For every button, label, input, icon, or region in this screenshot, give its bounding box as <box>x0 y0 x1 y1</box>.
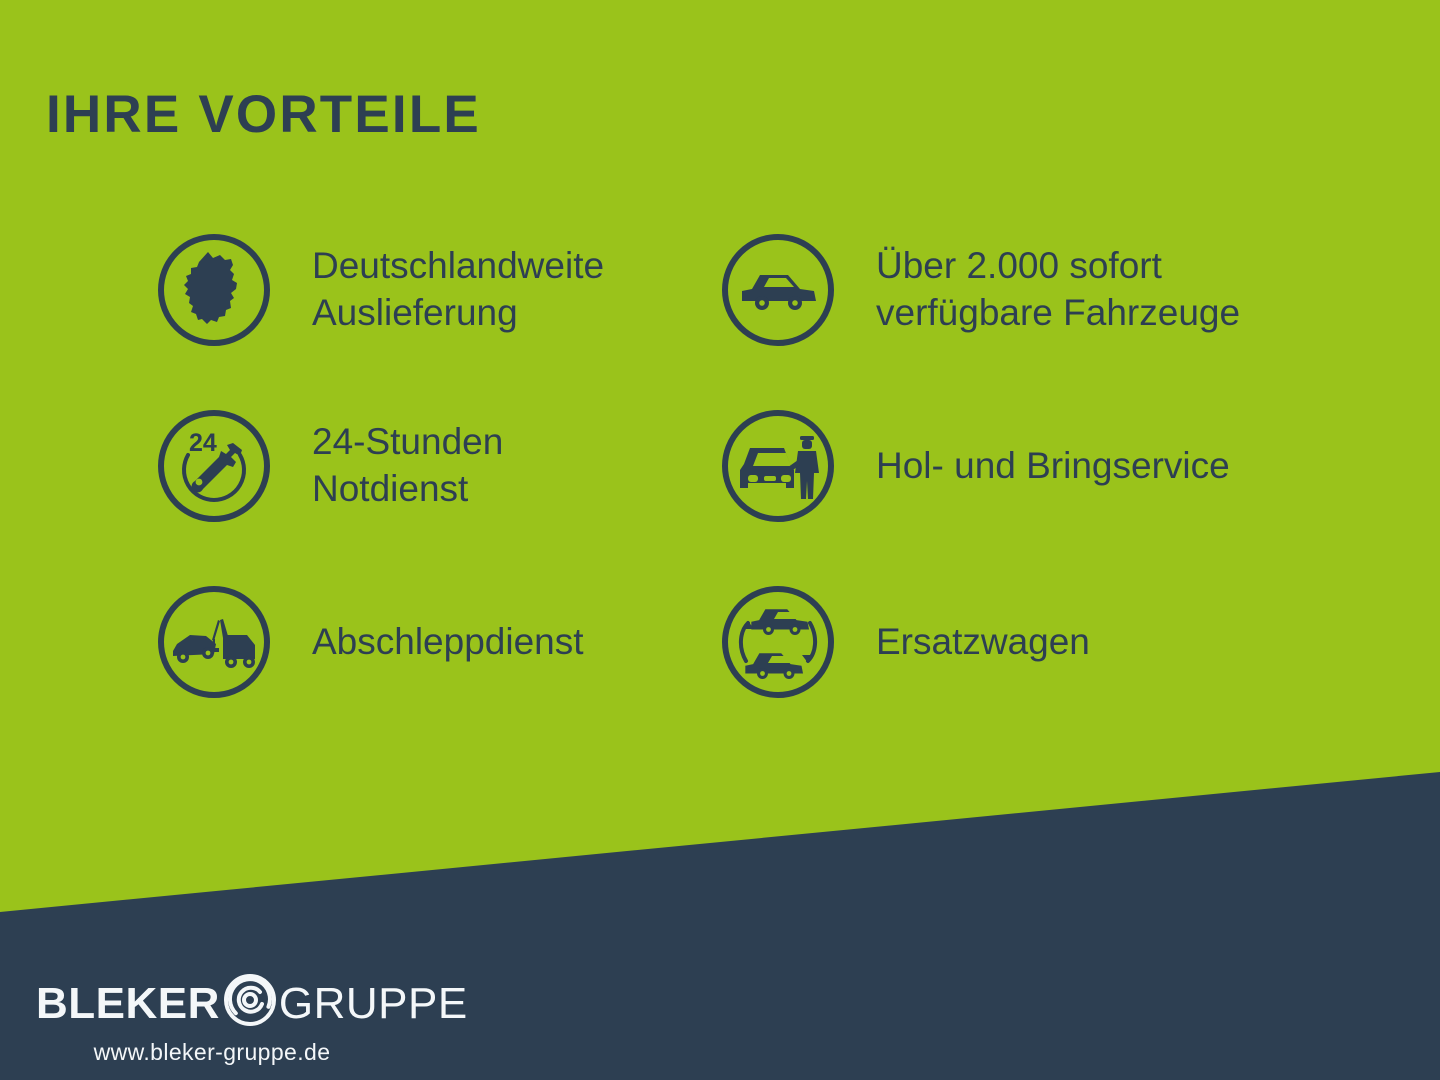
logo-word-gruppe: GRUPPE <box>279 982 468 1026</box>
logo-wordmark: BLEKER GRUPPE <box>36 978 416 1030</box>
benefit-item-hol-und-bringservice[interactable]: Hol- und Bringservice <box>722 408 1230 524</box>
benefit-label: Abschleppdienst <box>312 619 584 666</box>
tow-truck-icon <box>158 586 270 698</box>
benefit-label: Deutschlandweite Auslieferung <box>312 243 604 336</box>
benefit-label: Ersatzwagen <box>876 619 1090 666</box>
svg-text:24: 24 <box>189 429 217 457</box>
brand-logo[interactable]: BLEKER GRUPPE www.bleker-gruppe.de <box>36 978 416 1066</box>
car-side-icon <box>722 234 834 346</box>
logo-website-url[interactable]: www.bleker-gruppe.de <box>36 1039 388 1066</box>
benefit-label: 24-Stunden Notdienst <box>312 419 503 512</box>
benefit-label: Hol- und Bringservice <box>876 443 1230 490</box>
benefit-item-ersatzwagen[interactable]: Ersatzwagen <box>722 584 1090 700</box>
two-cars-exchange-icon <box>722 586 834 698</box>
benefit-item-deutschlandweite-auslieferung[interactable]: Deutschlandweite Auslieferung <box>158 232 604 348</box>
logo-word-bleker: BLEKER <box>36 982 220 1026</box>
24-hour-wrench-icon: 24 <box>158 410 270 522</box>
benefit-item-24-stunden-notdienst[interactable]: 24 24-Stunden Notdienst <box>158 408 503 524</box>
benefit-label: Über 2.000 sofort verfügbare Fahrzeuge <box>876 243 1240 336</box>
car-front-with-driver-icon <box>722 410 834 522</box>
benefit-item-verfuegbare-fahrzeuge[interactable]: Über 2.000 sofort verfügbare Fahrzeuge <box>722 232 1240 348</box>
slide-canvas: IHRE VORTEILE Deutschlandweite Ausliefer… <box>0 0 1440 1080</box>
page-title: IHRE VORTEILE <box>46 88 481 141</box>
benefit-item-abschleppdienst[interactable]: Abschleppdienst <box>158 584 584 700</box>
spiral-logo-icon <box>222 972 278 1028</box>
germany-map-icon <box>158 234 270 346</box>
